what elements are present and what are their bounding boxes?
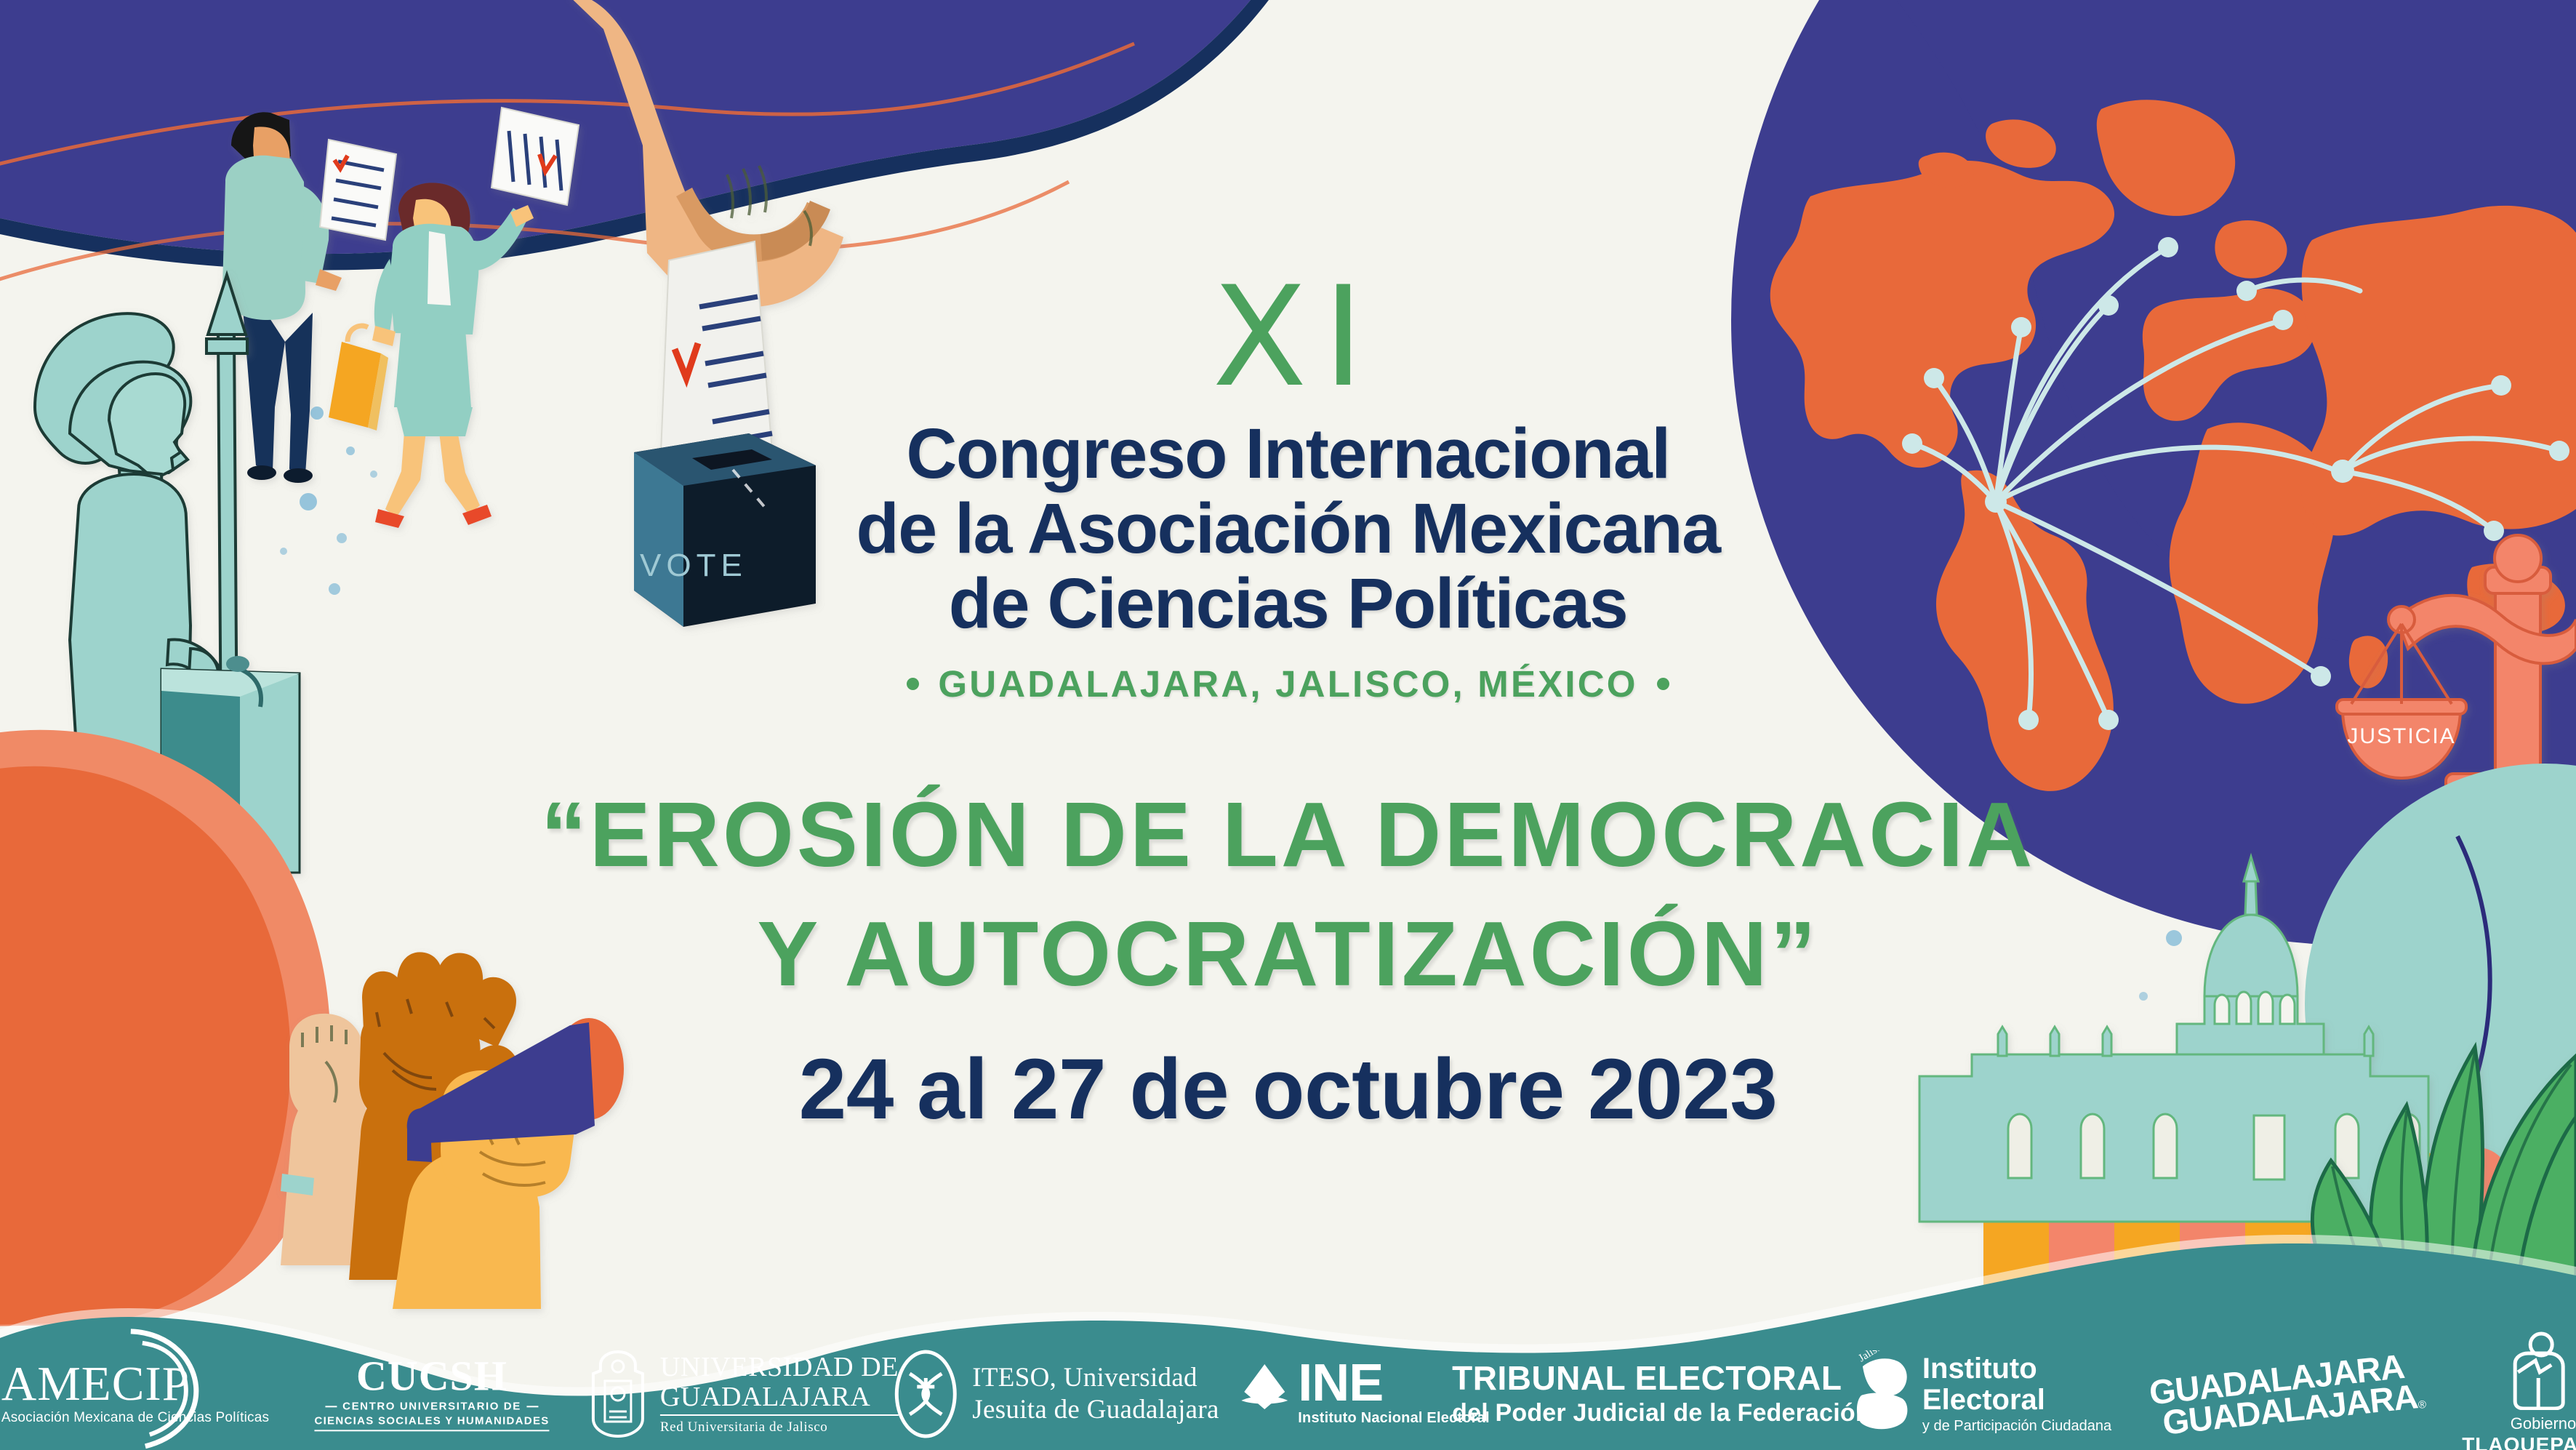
bullet-dot-right-icon [1657, 678, 1669, 690]
cucsh-rule-right-icon [527, 1406, 539, 1407]
congress-title: Congreso Internacional de la Asociación … [856, 417, 1720, 641]
iepc-line-2: Electoral [1922, 1385, 2111, 1416]
tepjf-line-1: TRIBUNAL ELECTORAL [1452, 1361, 1871, 1395]
tepjf-line-2: del Poder Judicial de la Federación [1452, 1399, 1871, 1427]
tlaquepaque-line-2: TLAQUEPAQUE [2462, 1433, 2576, 1450]
udg-line-2: GUADALAJARA [660, 1382, 899, 1416]
tlaquepaque-figure-icon [2503, 1331, 2576, 1410]
cucsh-subtitle-2: CIENCIAS SOCIALES Y HUMANIDADES [314, 1415, 549, 1432]
iteso-line-1: ITESO, Universidad [972, 1362, 1219, 1394]
theme-line-2: Y AUTOCRATIZACIÓN” [541, 894, 2035, 1014]
tlaquepaque-line-1: Gobierno [2511, 1414, 2576, 1433]
location-line: GUADALAJARA, JALISCO, MÉXICO [907, 662, 1669, 705]
location-text: GUADALAJARA, JALISCO, MÉXICO [938, 662, 1637, 705]
cucsh-rule-left-icon [325, 1406, 337, 1407]
sponsor-logo-instituto-electoral: Jalisco Instituto Electoral y de Partici… [1851, 1350, 2111, 1438]
udg-tagline: Red Universitaria de Jalisco [660, 1419, 899, 1435]
udg-crest-icon [587, 1349, 649, 1439]
sponsor-logo-guadalajara-city: GUADALAJARA GUADALAJARA ® [2148, 1348, 2427, 1439]
gdl-registered-mark: ® [2417, 1398, 2427, 1411]
theme-line-1: “EROSIÓN DE LA DEMOCRACIA [541, 775, 2035, 894]
iepc-jalisco-icon: Jalisco [1851, 1350, 1914, 1438]
bullet-dot-left-icon [907, 678, 919, 690]
udg-line-1: UNIVERSIDAD DE [660, 1353, 899, 1382]
congress-title-line-1: Congreso Internacional [856, 417, 1720, 492]
cucsh-subtitle-1: CENTRO UNIVERSITARIO DE [342, 1401, 521, 1413]
congress-title-line-2: de la Asociación Mexicana [856, 492, 1720, 566]
sponsor-logo-tlaquepaque: Gobierno TLAQUEPAQUE [2462, 1331, 2576, 1450]
sponsor-logo-amecip: AMECIP Asociación Mexicana de Ciencias P… [1, 1362, 269, 1426]
amecip-swoosh-icon [124, 1321, 211, 1450]
congress-title-line-3: de Ciencias Políticas [856, 566, 1720, 641]
iepc-tagline: y de Participación Ciudadana [1922, 1418, 2111, 1435]
ine-diamond-icon [1238, 1358, 1291, 1425]
iteso-line-2: Jesuita de Guadalajara [972, 1394, 1219, 1426]
center-text-block: XI Congreso Internacional de la Asociaci… [0, 0, 2576, 1450]
conference-theme: “EROSIÓN DE LA DEMOCRACIA Y AUTOCRATIZAC… [541, 775, 2035, 1014]
sponsor-logo-tribunal-electoral: TRIBUNAL ELECTORAL del Poder Judicial de… [1452, 1361, 1871, 1427]
cucsh-wordmark: CUCSH [314, 1356, 549, 1395]
sponsor-logo-udg: UNIVERSIDAD DE GUADALAJARA Red Universit… [587, 1349, 899, 1439]
sponsor-logo-iteso: ITESO, Universidad Jesuita de Guadalajar… [892, 1349, 1219, 1439]
sponsor-logo-cucsh: CUCSH CENTRO UNIVERSITARIO DE CIENCIAS S… [314, 1356, 549, 1431]
sponsor-logo-strip: AMECIP Asociación Mexicana de Ciencias P… [0, 1347, 2576, 1441]
conference-dates: 24 al 27 de octubre 2023 [799, 1040, 1778, 1139]
iepc-line-1: Instituto [1922, 1353, 2111, 1385]
conference-poster: VOTE [0, 0, 2576, 1450]
cucsh-subtitle-1-row: CENTRO UNIVERSITARIO DE [314, 1401, 549, 1413]
iteso-emblem-icon [892, 1349, 959, 1439]
roman-numeral: XI [1196, 275, 1379, 399]
